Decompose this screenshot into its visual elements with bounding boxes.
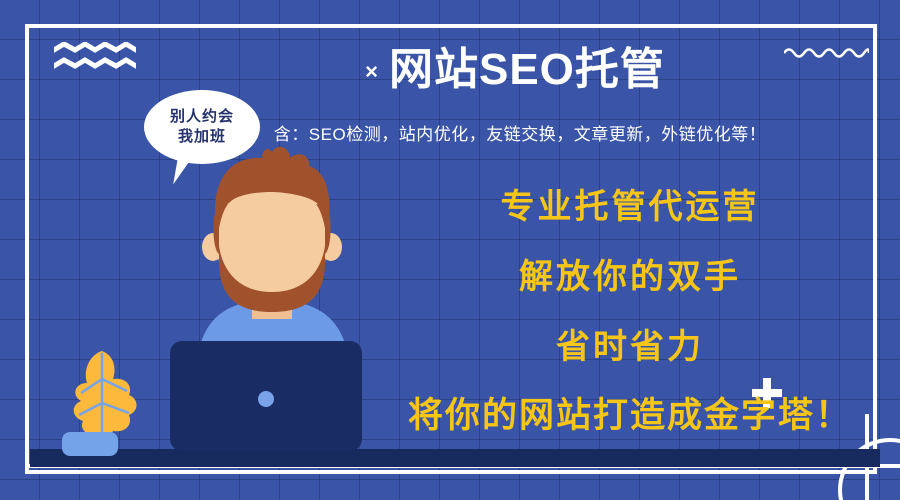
speech-bubble-line-2: 我加班 [178,127,226,147]
speech-bubble-line-1: 别人约会 [170,107,234,127]
plant-pot [62,432,118,456]
laptop-logo-icon [258,391,274,407]
speech-bubble: 别人约会 我加班 [144,90,260,164]
desk-surface [30,449,880,467]
poster-canvas: ×网站SEO托管 含：SEO检测，站内优化，友链交换，文章更新，外链优化等！ 专… [0,0,900,500]
